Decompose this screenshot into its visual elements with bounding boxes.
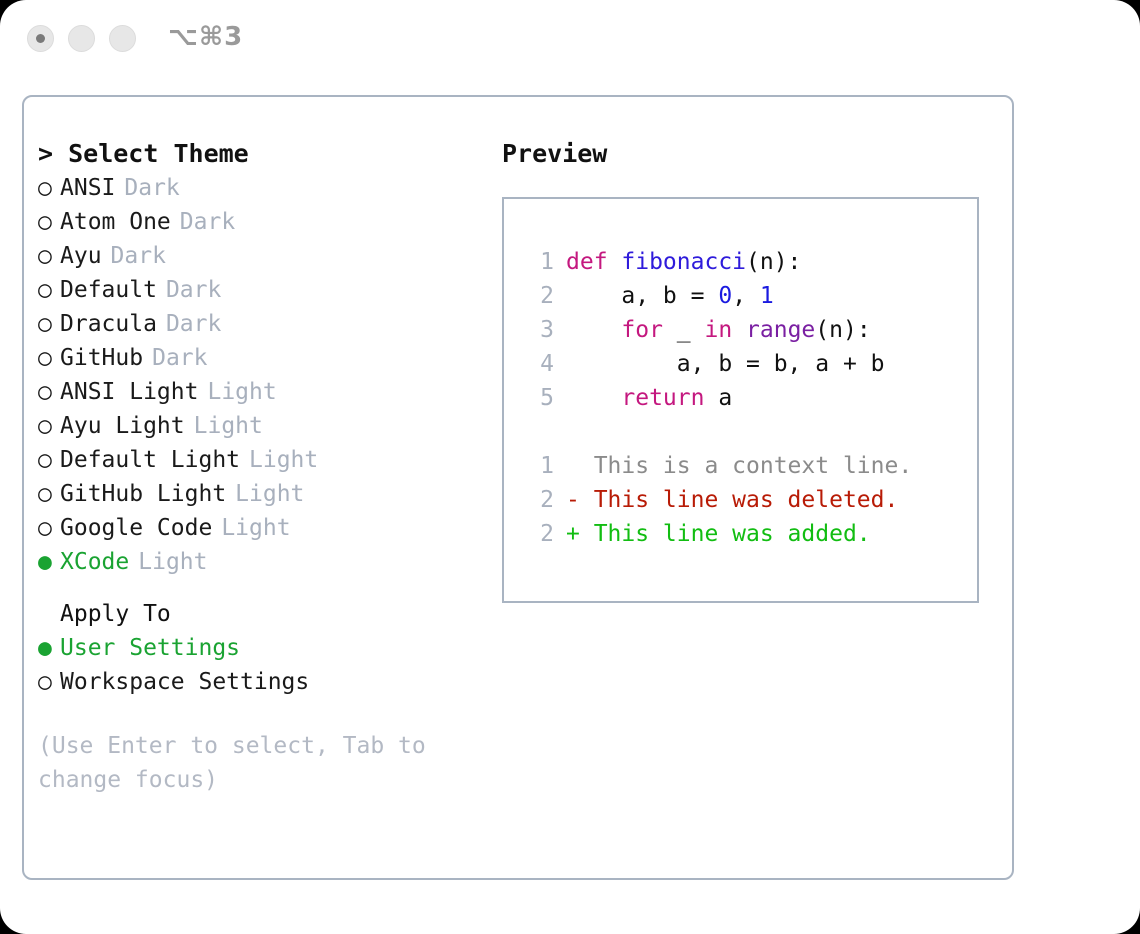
theme-option-label: Google Code xyxy=(60,511,212,545)
code-line: 3 for _ in range(n): xyxy=(524,313,977,347)
code-token-pln: a, b = xyxy=(566,283,718,309)
traffic-light-minimize[interactable] xyxy=(68,25,95,52)
line-number: 2 xyxy=(524,483,554,517)
radio-selected-icon: ● xyxy=(38,545,60,579)
radio-unselected-icon: ○ xyxy=(38,409,60,443)
theme-variant-tag: Light xyxy=(235,477,304,511)
code-token-pln xyxy=(566,385,621,411)
diff-line-content: This is a context line. xyxy=(566,449,912,483)
window-title: ⌥⌘3 xyxy=(168,22,243,52)
code-token-pln: a, b = b, a + b xyxy=(566,351,885,377)
code-token-kw: return xyxy=(621,385,704,411)
code-token-pln: _ xyxy=(663,317,705,343)
radio-unselected-icon: ○ xyxy=(38,443,60,477)
code-token-pln xyxy=(566,317,621,343)
theme-variant-tag: Light xyxy=(207,375,276,409)
theme-option-default[interactable]: ○DefaultDark xyxy=(38,273,498,307)
code-token-num: 0 xyxy=(718,283,732,309)
theme-option-default-light[interactable]: ○Default LightLight xyxy=(38,443,498,477)
traffic-lights xyxy=(27,25,136,52)
apply-to-option-workspace-settings[interactable]: ○Workspace Settings xyxy=(38,665,498,699)
theme-option-atom-one[interactable]: ○Atom OneDark xyxy=(38,205,498,239)
theme-option-label: Atom One xyxy=(60,205,171,239)
theme-option-ayu[interactable]: ○AyuDark xyxy=(38,239,498,273)
code-diff-spacer xyxy=(524,415,977,449)
radio-unselected-icon: ○ xyxy=(38,307,60,341)
select-theme-header: > Select Theme xyxy=(38,137,498,171)
title-bar: ⌥⌘3 xyxy=(0,0,1140,78)
line-number: 5 xyxy=(524,381,554,415)
code-line: 2 a, b = 0, 1 xyxy=(524,279,977,313)
theme-variant-tag: Dark xyxy=(111,239,166,273)
line-number: 1 xyxy=(524,449,554,483)
theme-option-ansi-light[interactable]: ○ANSI LightLight xyxy=(38,375,498,409)
theme-option-ansi[interactable]: ○ANSIDark xyxy=(38,171,498,205)
code-token-pln: , xyxy=(732,283,760,309)
preview-column: Preview 1def fibonacci(n):2 a, b = 0, 13… xyxy=(502,137,1002,603)
code-line-content: a, b = b, a + b xyxy=(566,347,885,381)
code-line-content: return a xyxy=(566,381,732,415)
theme-option-google-code[interactable]: ○Google CodeLight xyxy=(38,511,498,545)
code-line: 4 a, b = b, a + b xyxy=(524,347,977,381)
theme-variant-tag: Light xyxy=(194,409,263,443)
terminal-window: ⌥⌘3 > Select Theme ○ANSIDark○Atom OneDar… xyxy=(0,0,1140,934)
code-sample: 1def fibonacci(n):2 a, b = 0, 13 for _ i… xyxy=(524,245,977,415)
diff-sample: 1 This is a context line.2- This line wa… xyxy=(524,449,977,551)
code-token-kw: in xyxy=(704,317,732,343)
theme-option-label: Default Light xyxy=(60,443,240,477)
theme-option-label: GitHub xyxy=(60,341,143,375)
theme-option-ayu-light[interactable]: ○Ayu LightLight xyxy=(38,409,498,443)
apply-to-option-label: Workspace Settings xyxy=(60,665,309,699)
code-token-fn: fibonacci xyxy=(621,249,746,275)
radio-unselected-icon: ○ xyxy=(38,273,60,307)
code-line: 5 return a xyxy=(524,381,977,415)
line-number: 2 xyxy=(524,279,554,313)
theme-option-github-light[interactable]: ○GitHub LightLight xyxy=(38,477,498,511)
theme-option-label: Ayu xyxy=(60,239,102,273)
theme-option-label: GitHub Light xyxy=(60,477,226,511)
theme-option-github[interactable]: ○GitHubDark xyxy=(38,341,498,375)
section-spacer xyxy=(38,579,498,597)
traffic-light-zoom[interactable] xyxy=(109,25,136,52)
diff-line-content: + This line was added. xyxy=(566,517,871,551)
apply-to-option-user-settings[interactable]: ●User Settings xyxy=(38,631,498,665)
diff-line-content: - This line was deleted. xyxy=(566,483,898,517)
code-token-pln: (n): xyxy=(746,249,801,275)
radio-unselected-icon: ○ xyxy=(38,477,60,511)
code-token-pln: (n): xyxy=(815,317,870,343)
diff-line-add: 2+ This line was added. xyxy=(524,517,977,551)
preview-box: 1def fibonacci(n):2 a, b = 0, 13 for _ i… xyxy=(502,197,979,603)
theme-option-label: ANSI xyxy=(60,171,115,205)
radio-unselected-icon: ○ xyxy=(38,375,60,409)
code-line-content: a, b = 0, 1 xyxy=(566,279,774,313)
diff-line-ctx: 1 This is a context line. xyxy=(524,449,977,483)
theme-option-list: ○ANSIDark○Atom OneDark○AyuDark○DefaultDa… xyxy=(38,171,498,579)
diff-line-del: 2- This line was deleted. xyxy=(524,483,977,517)
theme-variant-tag: Dark xyxy=(124,171,179,205)
theme-variant-tag: Light xyxy=(138,545,207,579)
code-token-kw: def xyxy=(566,249,621,275)
code-line-content: for _ in range(n): xyxy=(566,313,871,347)
theme-option-label: XCode xyxy=(60,545,129,579)
line-number: 1 xyxy=(524,245,554,279)
theme-variant-tag: Dark xyxy=(152,341,207,375)
theme-variant-tag: Dark xyxy=(166,307,221,341)
line-number: 4 xyxy=(524,347,554,381)
theme-option-label: Ayu Light xyxy=(60,409,185,443)
code-token-pln xyxy=(732,317,746,343)
code-token-call: range xyxy=(746,317,815,343)
theme-option-label: Default xyxy=(60,273,157,307)
theme-variant-tag: Dark xyxy=(166,273,221,307)
theme-option-label: Dracula xyxy=(60,307,157,341)
radio-selected-icon: ● xyxy=(38,631,60,665)
line-number: 2 xyxy=(524,517,554,551)
radio-unselected-icon: ○ xyxy=(38,341,60,375)
apply-to-option-list: ●User Settings○Workspace Settings xyxy=(38,631,498,699)
code-token-num: 1 xyxy=(760,283,774,309)
preview-title: Preview xyxy=(502,137,1002,171)
theme-variant-tag: Dark xyxy=(180,205,235,239)
theme-option-xcode[interactable]: ●XCodeLight xyxy=(38,545,498,579)
theme-selector-panel: > Select Theme ○ANSIDark○Atom OneDark○Ay… xyxy=(22,95,1014,880)
keyboard-hint: (Use Enter to select, Tab to change focu… xyxy=(38,729,458,797)
code-token-kw: for xyxy=(621,317,663,343)
theme-option-label: ANSI Light xyxy=(60,375,198,409)
theme-variant-tag: Light xyxy=(221,511,290,545)
code-token-pln: a xyxy=(704,385,732,411)
code-line: 1def fibonacci(n): xyxy=(524,245,977,279)
radio-unselected-icon: ○ xyxy=(38,239,60,273)
theme-variant-tag: Light xyxy=(249,443,318,477)
apply-to-option-label: User Settings xyxy=(60,631,240,665)
radio-unselected-icon: ○ xyxy=(38,205,60,239)
theme-option-dracula[interactable]: ○DraculaDark xyxy=(38,307,498,341)
radio-unselected-icon: ○ xyxy=(38,511,60,545)
radio-unselected-icon: ○ xyxy=(38,171,60,205)
code-line-content: def fibonacci(n): xyxy=(566,245,801,279)
theme-list-column: > Select Theme ○ANSIDark○Atom OneDark○Ay… xyxy=(38,137,498,797)
apply-to-header: Apply To xyxy=(38,597,498,631)
radio-unselected-icon: ○ xyxy=(38,665,60,699)
traffic-light-close[interactable] xyxy=(27,25,54,52)
line-number: 3 xyxy=(524,313,554,347)
